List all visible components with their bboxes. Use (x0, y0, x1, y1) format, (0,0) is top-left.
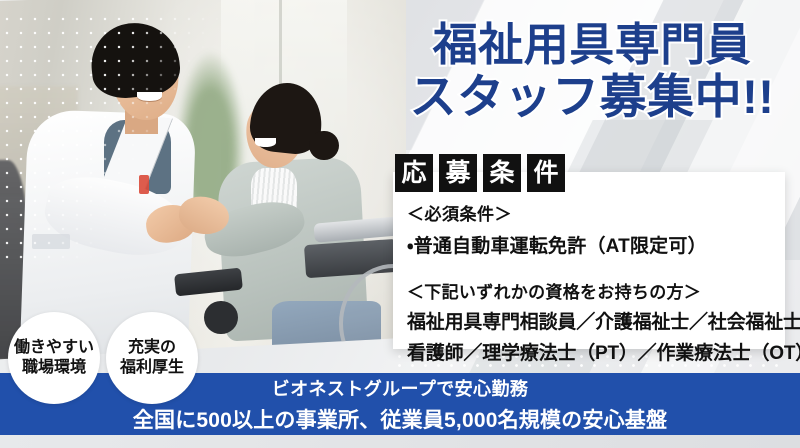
required-conditions-heading: ＜必須条件＞ (407, 200, 777, 225)
feature-badge-line-2: 職場環境 (22, 358, 86, 378)
band-line-1: ビオネストグループで安心勤務 (272, 375, 529, 401)
client-smile (255, 138, 276, 147)
wheelchair-hub (204, 301, 238, 334)
qualifications-line-2: 看護師／理学療法士（PT）／作業療法士（OT） (407, 338, 777, 365)
chip-character: 件 (527, 154, 565, 192)
headline-line-1: 福祉用具専門員 (397, 22, 787, 68)
footer-strip (0, 435, 800, 448)
caregiver-name-badge (139, 175, 149, 194)
chip-character: 応 (395, 154, 433, 192)
feature-badge-benefits: 充実の 福利厚生 (106, 312, 198, 404)
feature-badges: 働きやすい 職場環境 充実の 福利厚生 (8, 312, 198, 404)
required-conditions-item: ・普通自動車運転免許（AT限定可） (407, 231, 777, 258)
feature-badge-line-1: 働きやすい (14, 338, 94, 358)
qualifications-line-1: 福祉用具専門相談員／介護福祉士／社会福祉士 (407, 307, 777, 334)
headline-line-2: スタッフ募集中!! (397, 73, 787, 121)
band-line-2: 全国に500以上の事業所、従業員5,000名規模の安心基盤 (133, 404, 667, 434)
headline: 福祉用具専門員 スタッフ募集中!! (397, 22, 787, 121)
feature-badge-line-2: 福利厚生 (120, 358, 184, 378)
feature-badge-workplace: 働きやすい 職場環境 (8, 312, 100, 404)
hero-photo (0, 0, 406, 360)
requirements-panel: ＜必須条件＞ ・普通自動車運転免許（AT限定可） ＜下記いずれかの資格をお持ちの… (393, 172, 785, 349)
client-hair-bun (309, 131, 338, 161)
chip-character: 条 (483, 154, 521, 192)
recruitment-banner: 福祉用具専門員 スタッフ募集中!! ＜必須条件＞ ・普通自動車運転免許（AT限定… (0, 0, 800, 448)
caregiver-pocket (32, 234, 70, 249)
photo-scene (0, 0, 406, 360)
feature-badge-line-1: 充実の (128, 338, 176, 358)
application-conditions-badge: 応 募 条 件 (395, 154, 565, 192)
chip-character: 募 (439, 154, 477, 192)
qualifications-heading: ＜下記いずれかの資格をお持ちの方＞ (407, 278, 777, 303)
